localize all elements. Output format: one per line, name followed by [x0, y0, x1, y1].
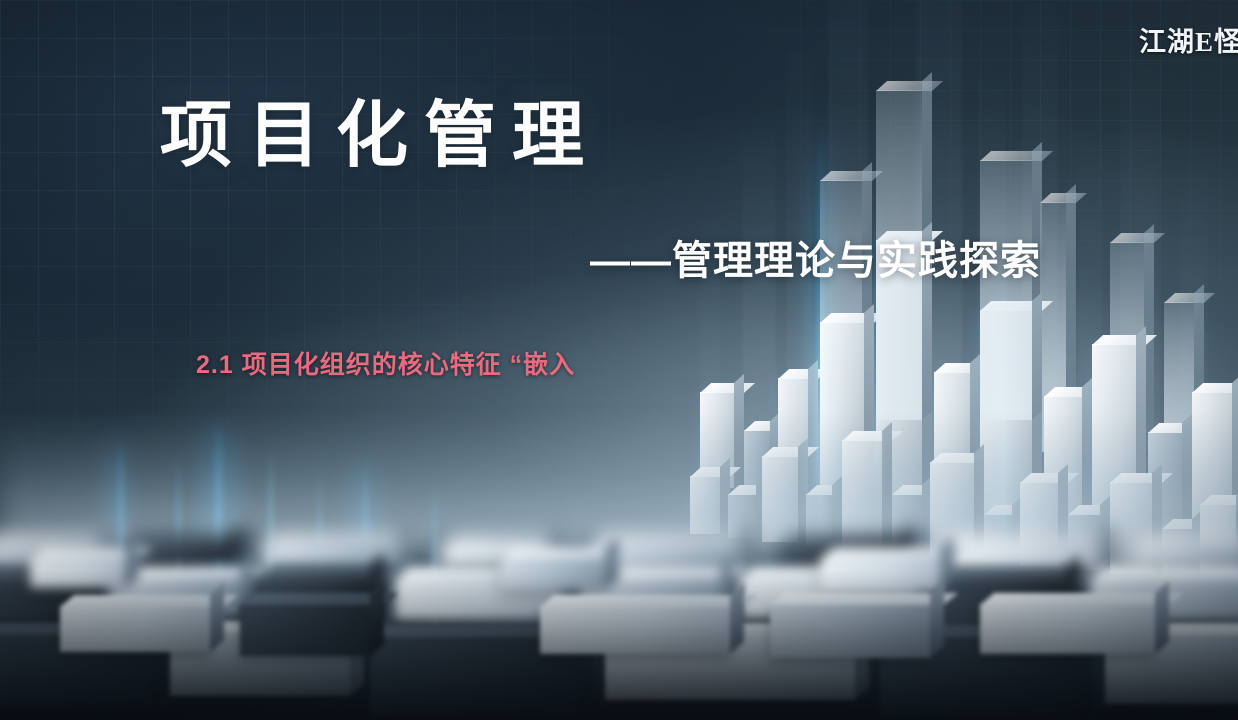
- presentation-slide: 项目化管理 ——管理理论与实践探索 2.1 项目化组织的核心特征 “嵌入 江湖E…: [0, 0, 1238, 720]
- page-subtitle: ——管理理论与实践探索: [590, 228, 1041, 286]
- text-layer: 项目化管理 ——管理理论与实践探索 2.1 项目化组织的核心特征 “嵌入 江湖E…: [0, 0, 1238, 720]
- page-title: 项目化管理: [160, 98, 600, 176]
- section-heading: 2.1 项目化组织的核心特征 “嵌入: [196, 345, 575, 381]
- watermark-label: 江湖E怪: [1139, 20, 1238, 59]
